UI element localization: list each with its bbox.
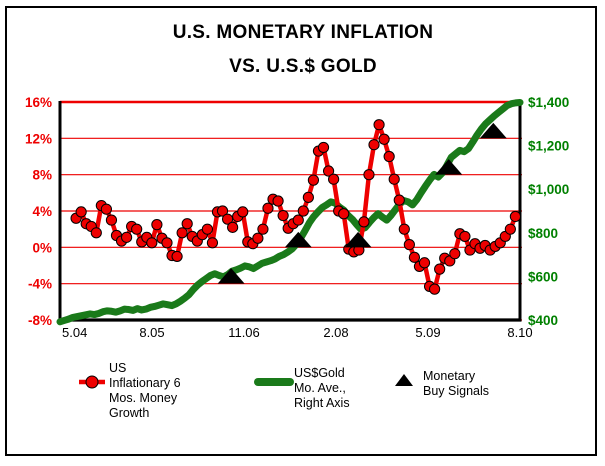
inflation-marker [399,224,409,234]
y-axis-right-tick-$1,400: $1,400 [528,95,569,110]
y-axis-left-tick--8%: -8% [28,313,52,328]
inflation-marker [177,228,187,238]
inflation-marker [339,209,349,219]
y-axis-left-tick--4%: -4% [28,277,52,292]
y-axis-left-tick-12%: 12% [25,131,52,146]
red-circle-line-marker-icon [86,376,98,388]
inflation-marker [384,151,394,161]
inflation-marker [273,196,283,206]
inflation-marker [379,134,389,144]
inflation-marker [293,215,303,225]
x-axis-tick-8.05: 8.05 [139,325,164,340]
buy-signal-triangle [285,232,312,248]
inflation-marker [132,224,142,234]
inflation-marker [263,203,273,213]
inflation-marker [278,210,288,220]
legend-label-inflation: Inflationary 6 [109,376,181,390]
inflation-marker [409,252,419,262]
inflation-marker [369,140,379,150]
legend-label-gold: Mo. Ave., [294,381,346,395]
inflation-marker [404,240,414,250]
gold-price-line [60,102,520,321]
y-axis-right-tick-$1,000: $1,000 [528,182,569,197]
y-axis-right-tick-$1,200: $1,200 [528,139,569,154]
inflation-marker [435,264,445,274]
inflation-marker [91,228,101,238]
inflation-marker [329,174,339,184]
inflation-marker [182,219,192,229]
y-axis-left-tick-4%: 4% [32,204,52,219]
y-axis-left-tick-16%: 16% [25,95,52,110]
inflation-marker [101,204,111,214]
inflation-marker [460,231,470,241]
legend-label-signals: Monetary [423,369,476,383]
buy-signal-triangle [435,159,462,175]
inflation-marker [318,142,328,152]
inflation-marker [364,170,374,180]
inflation-marker [308,175,318,185]
inflation-marker [389,174,399,184]
inflation-marker [238,207,248,217]
inflation-marker [450,249,460,259]
plot-area-wrapper: -8%-4%0%4%8%12%16%$400$600$800$1,000$1,2… [7,8,599,458]
x-axis-tick-5.09: 5.09 [415,325,440,340]
legend-label-signals: Buy Signals [423,384,489,398]
chart-svg: -8%-4%0%4%8%12%16%$400$600$800$1,000$1,2… [7,8,599,458]
inflation-marker [147,238,157,248]
inflation-marker [394,195,404,205]
inflation-marker [359,217,369,227]
inflation-marker [76,207,86,217]
legend-label-inflation: Growth [109,406,149,420]
inflation-marker [505,224,515,234]
inflation-marker [172,251,182,261]
legend-label-inflation: US [109,361,126,375]
inflation-marker [253,233,263,243]
inflation-marker [106,215,116,225]
inflation-marker [228,222,238,232]
inflation-marker [298,206,308,216]
inflation-marker [121,232,131,242]
y-axis-left-tick-0%: 0% [32,240,52,255]
inflation-marker [510,211,520,221]
black-triangle-marker-icon [395,374,413,386]
x-axis-tick-2.08: 2.08 [323,325,348,340]
inflation-marker [202,224,212,234]
inflation-marker [162,238,172,248]
inflation-marker [303,192,313,202]
inflation-marker [207,238,217,248]
y-axis-right-tick-$800: $800 [528,226,558,241]
x-axis-tick-8.10: 8.10 [507,325,532,340]
y-axis-left-tick-8%: 8% [32,168,52,183]
x-axis-tick-5.04: 5.04 [62,325,87,340]
inflation-marker [152,220,162,230]
inflation-marker [374,120,384,130]
inflation-marker [258,224,268,234]
inflation-marker [430,284,440,294]
y-axis-right-tick-$600: $600 [528,269,558,284]
legend-label-gold: Right Axis [294,396,350,410]
inflation-marker [419,258,429,268]
legend-label-gold: US$Gold [294,366,345,380]
x-axis-tick-11.06: 11.06 [228,325,260,340]
legend-label-inflation: Mos. Money [109,391,178,405]
chart-frame: U.S. MONETARY INFLATION VS. U.S.$ GOLD -… [5,6,597,456]
